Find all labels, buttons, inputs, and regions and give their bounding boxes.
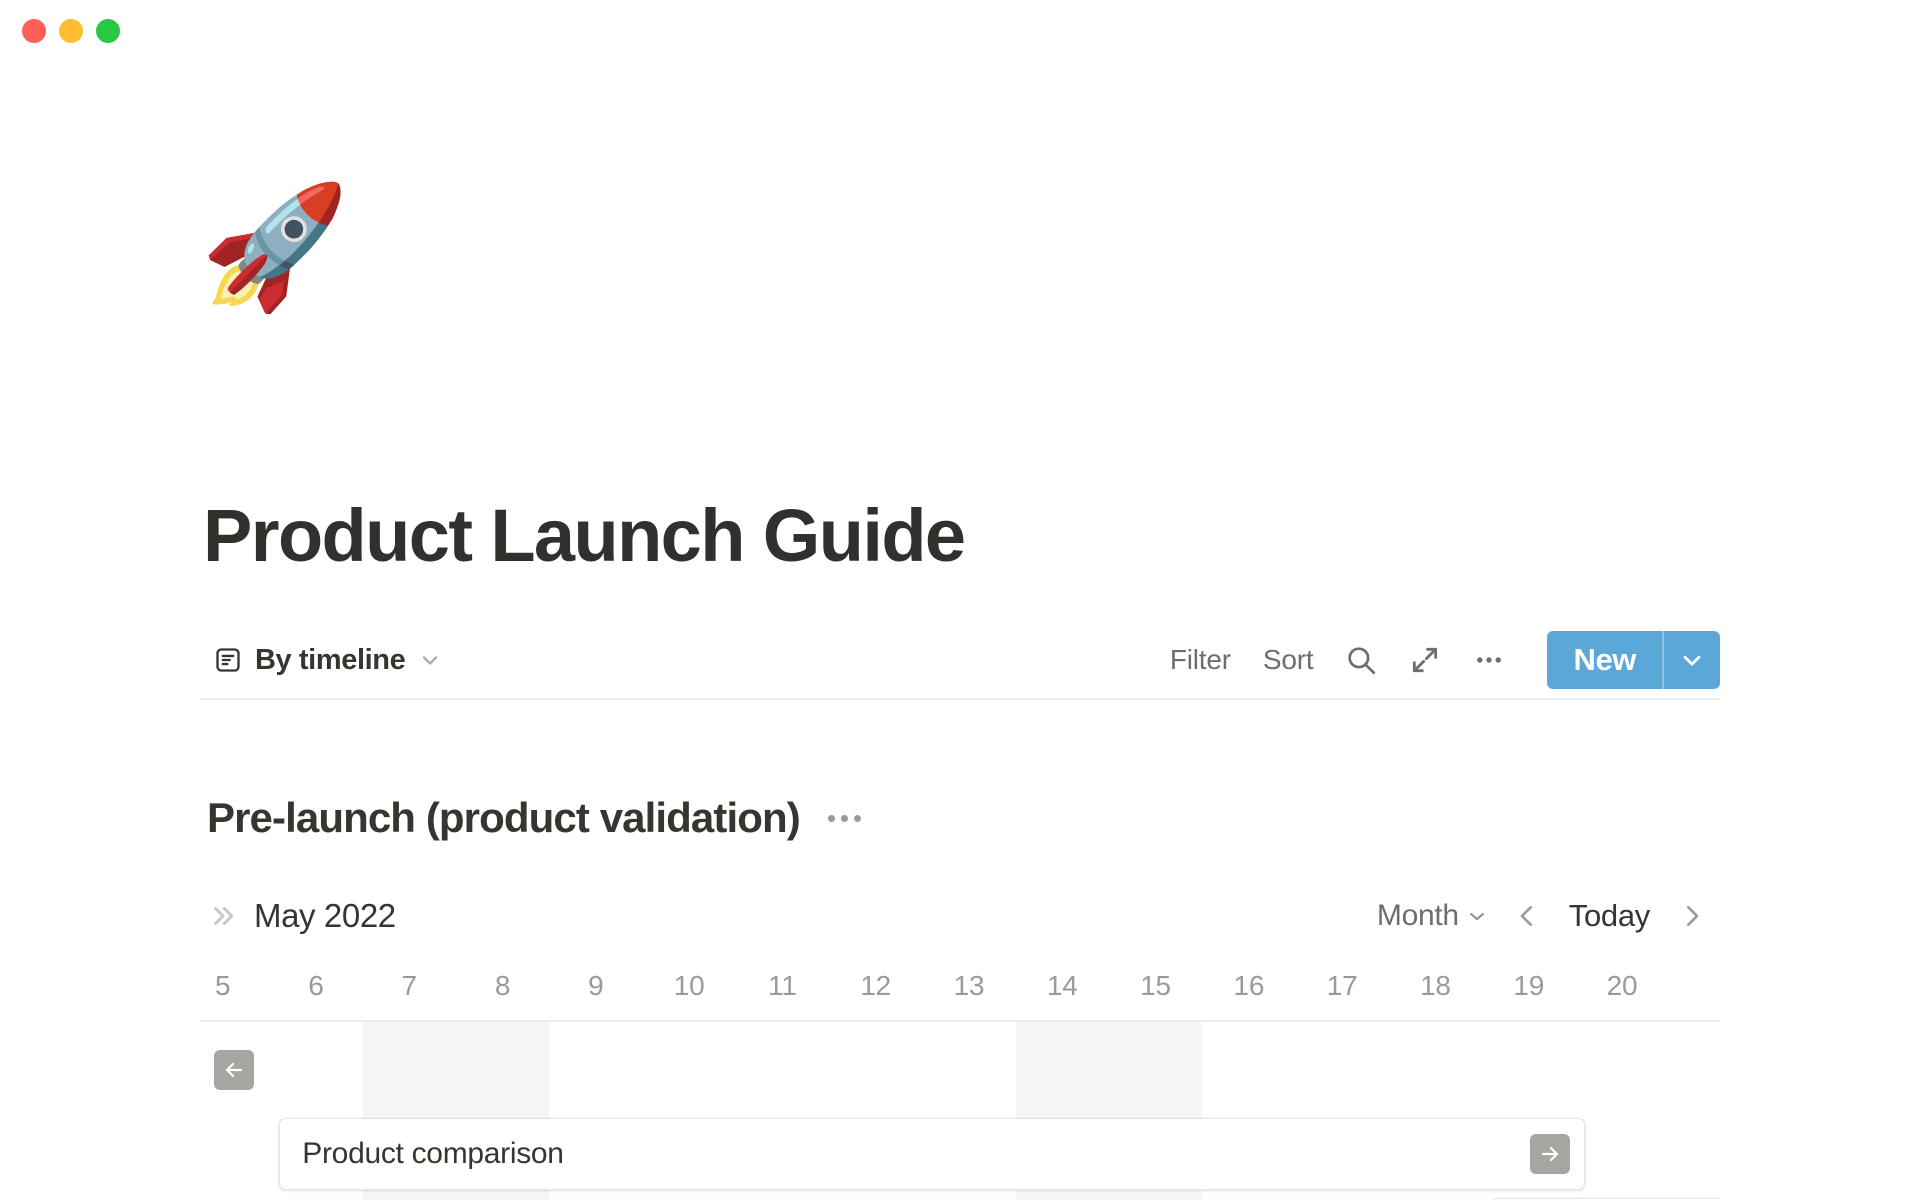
timeline-day-9: 9 [549, 950, 642, 1022]
timeline-day-20: 20 [1575, 950, 1668, 1022]
timeline-view-icon [214, 646, 242, 674]
timeline-nav: Month Today [1367, 892, 1720, 940]
page-container: 🚀 Product Launch Guide By timeline Filte… [0, 62, 1920, 1200]
chevron-left-icon [1512, 901, 1542, 931]
timeline-today-button[interactable]: Today [1555, 892, 1664, 940]
dot [828, 815, 835, 822]
chevron-down-icon [418, 648, 442, 672]
double-chevron-right-icon[interactable] [200, 893, 246, 939]
timeline-day-15: 15 [1109, 950, 1202, 1022]
timeline-day-19: 19 [1482, 950, 1575, 1022]
timeline-controls: May 2022 Month Today [200, 882, 1720, 950]
timeline-zoom-label: Month [1377, 899, 1459, 933]
timeline-day-13: 13 [922, 950, 1015, 1022]
timeline-zoom-selector[interactable]: Month [1367, 893, 1499, 939]
timeline-day-14: 14 [1016, 950, 1109, 1022]
group-menu-ellipsis-icon[interactable] [822, 807, 867, 830]
view-tab-by-timeline[interactable]: By timeline [200, 638, 452, 683]
window-titlebar [0, 0, 1920, 62]
ellipsis-icon[interactable] [1462, 633, 1516, 687]
timeline-item-resize-handle-arrow-right-icon[interactable] [1530, 1134, 1570, 1174]
chevron-down-icon [1465, 904, 1489, 928]
timeline-day-5: 5 [200, 950, 269, 1022]
view-tab-label: By timeline [255, 644, 405, 677]
search-icon[interactable] [1334, 633, 1388, 687]
timeline-day-7: 7 [363, 950, 456, 1022]
filter-button[interactable]: Filter [1154, 636, 1247, 684]
timeline-day-11: 11 [736, 950, 829, 1022]
database-toolbar: By timeline Filter Sort [200, 622, 1720, 700]
new-button-dropdown-chevron-down-icon[interactable] [1664, 631, 1720, 689]
timeline-scroll-left-button[interactable] [214, 1050, 254, 1090]
timeline-day-6: 6 [269, 950, 362, 1022]
window-maximize-button[interactable] [96, 19, 120, 43]
timeline-month-label: May 2022 [254, 897, 396, 935]
group-title[interactable]: Pre-launch (product validation) [207, 794, 800, 842]
timeline-day-header: 567891011121314151617181920 [200, 950, 1720, 1022]
timeline-day-16: 16 [1202, 950, 1295, 1022]
timeline-next-button[interactable] [1668, 892, 1716, 940]
group-header: Pre-launch (product validation) [207, 794, 867, 842]
timeline-item[interactable]: Product comparison [279, 1118, 1585, 1190]
dot [841, 815, 848, 822]
sort-button[interactable]: Sort [1247, 636, 1330, 684]
chevron-right-icon [1677, 901, 1707, 931]
timeline-grid: 567891011121314151617181920 Product comp… [200, 950, 1720, 1200]
timeline-body[interactable]: Product comparisonCompetitor [200, 1022, 1720, 1200]
timeline-day-8: 8 [456, 950, 549, 1022]
new-button-group: New [1547, 631, 1720, 689]
timeline-day-12: 12 [829, 950, 922, 1022]
timeline-prev-button[interactable] [1503, 892, 1551, 940]
timeline-day-10: 10 [642, 950, 735, 1022]
window-close-button[interactable] [22, 19, 46, 43]
page-title[interactable]: Product Launch Guide [203, 499, 964, 573]
timeline-item-label: Product comparison [280, 1137, 563, 1171]
timeline-day-18: 18 [1389, 950, 1482, 1022]
timeline-day-17: 17 [1296, 950, 1389, 1022]
page-emoji-rocket-icon[interactable]: 🚀 [200, 187, 349, 307]
dot [854, 815, 861, 822]
new-button[interactable]: New [1547, 631, 1662, 689]
window-minimize-button[interactable] [59, 19, 83, 43]
expand-diagonal-icon[interactable] [1398, 633, 1452, 687]
toolbar-actions: Filter Sort [1154, 631, 1720, 689]
